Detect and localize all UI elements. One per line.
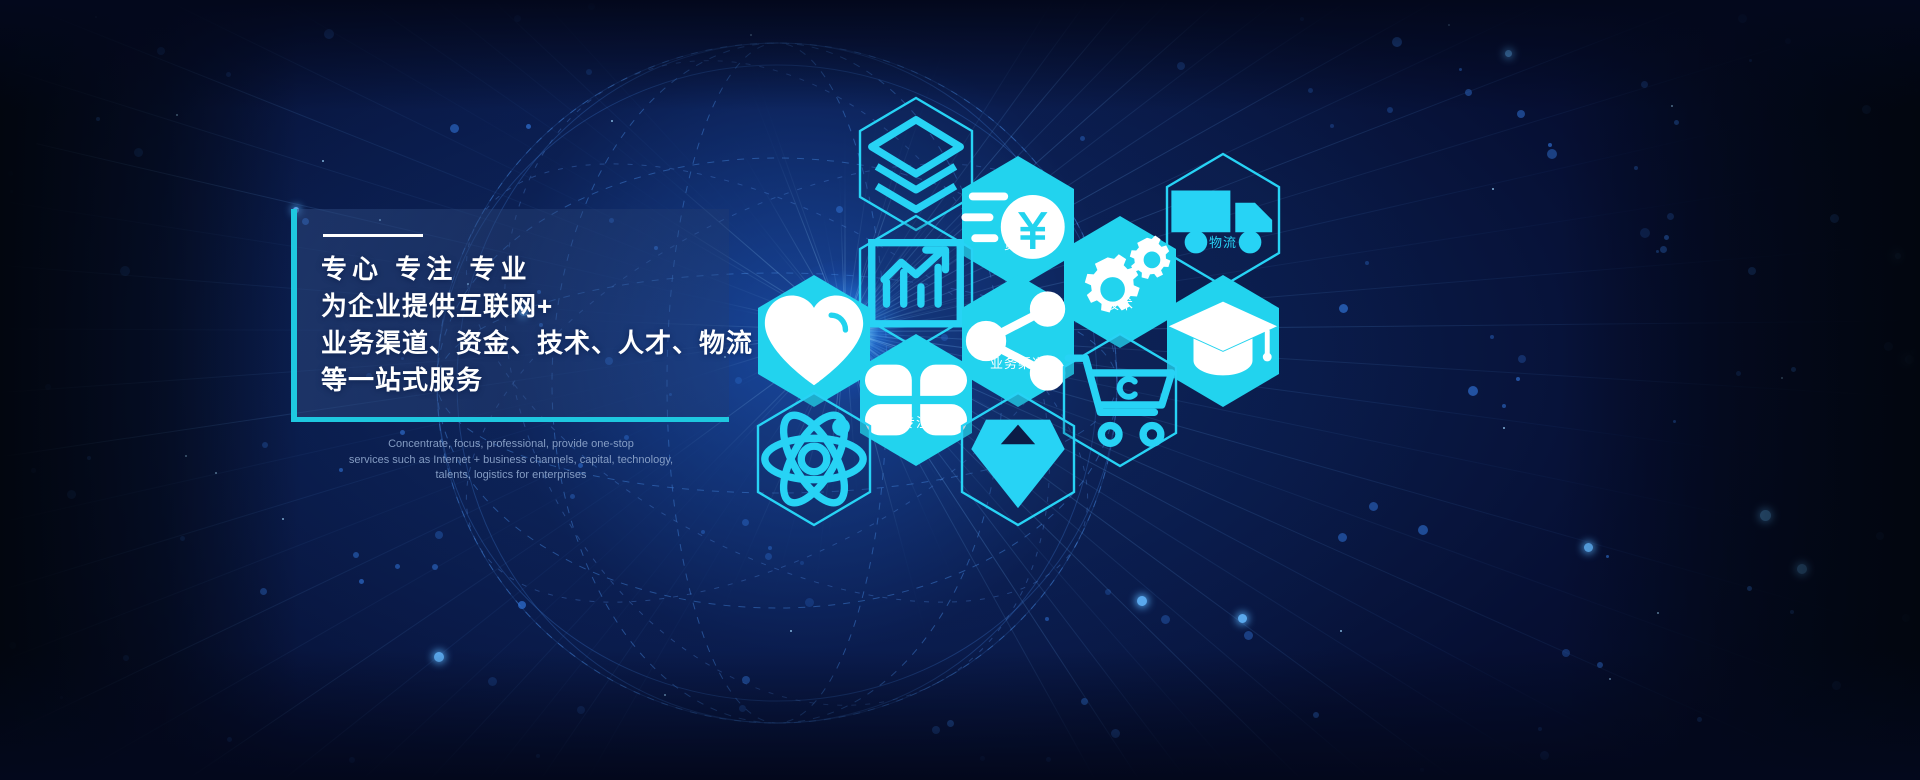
hex-tile-logistics[interactable]: 物流 [1164, 152, 1282, 288]
atom-icon [790, 435, 838, 483]
headline-lines: 专心 专注 专业 为企业提供互联网+ 业务渠道、资金、技术、人才、物流 等一站式… [321, 251, 731, 399]
hex-tile-capital[interactable]: 资金 [959, 154, 1077, 290]
hex-tile-analytics[interactable] [857, 214, 975, 350]
truck-icon [1202, 190, 1244, 232]
title-rule [323, 234, 423, 237]
yen-coin-icon [997, 192, 1039, 234]
bottom-vignette [0, 650, 1920, 780]
headline-line-3: 业务渠道、资金、技术、人才、物流 [321, 325, 731, 362]
subtitle-line-2: services such as Internet + business cha… [291, 453, 731, 469]
subtitle: Concentrate, focus, professional, provid… [291, 437, 731, 484]
share-nodes-icon [997, 311, 1039, 353]
graduation-cap-icon [1202, 311, 1244, 353]
hex-tile-atom[interactable] [755, 391, 873, 527]
layers-icon [892, 140, 940, 188]
hex-tile-tech[interactable]: 技术 [1061, 214, 1179, 350]
diamond-icon [997, 429, 1039, 471]
headline-line-2: 为企业提供互联网+ [321, 288, 731, 325]
heart-icon [793, 311, 835, 353]
hex-tile-talent[interactable]: 人才 [1164, 273, 1282, 409]
hex-tile-focusheart[interactable]: 专心 [755, 273, 873, 409]
hero-banner: 专心 专注 专业 为企业提供互联网+ 业务渠道、资金、技术、人才、物流 等一站式… [0, 0, 1920, 780]
subtitle-line-3: talents, logistics for enterprises [291, 468, 731, 484]
bar-chart-icon [892, 258, 940, 306]
headline-panel: 专心 专注 专业 为企业提供互联网+ 业务渠道、资金、技术、人才、物流 等一站式… [291, 209, 729, 422]
gears-icon [1099, 252, 1141, 294]
headline-line-4: 等一站式服务 [321, 362, 731, 399]
hexagon-cluster: 资金物流技术专心业务渠道人才专注专业 [744, 96, 1304, 536]
subtitle-line-1: Concentrate, focus, professional, provid… [291, 437, 731, 453]
clover-icon [895, 370, 937, 412]
hex-tile-pro[interactable]: 专业 [959, 391, 1077, 527]
hex-tile-layers[interactable] [857, 96, 975, 232]
hex-tile-cart[interactable] [1061, 332, 1179, 468]
top-vignette [0, 0, 1920, 110]
hex-tile-attention[interactable]: 专注 [857, 332, 975, 468]
shopping-cart-icon [1096, 376, 1144, 424]
hex-tile-channels[interactable]: 业务渠道 [959, 273, 1077, 409]
headline-line-1: 专心 专注 专业 [321, 251, 731, 288]
